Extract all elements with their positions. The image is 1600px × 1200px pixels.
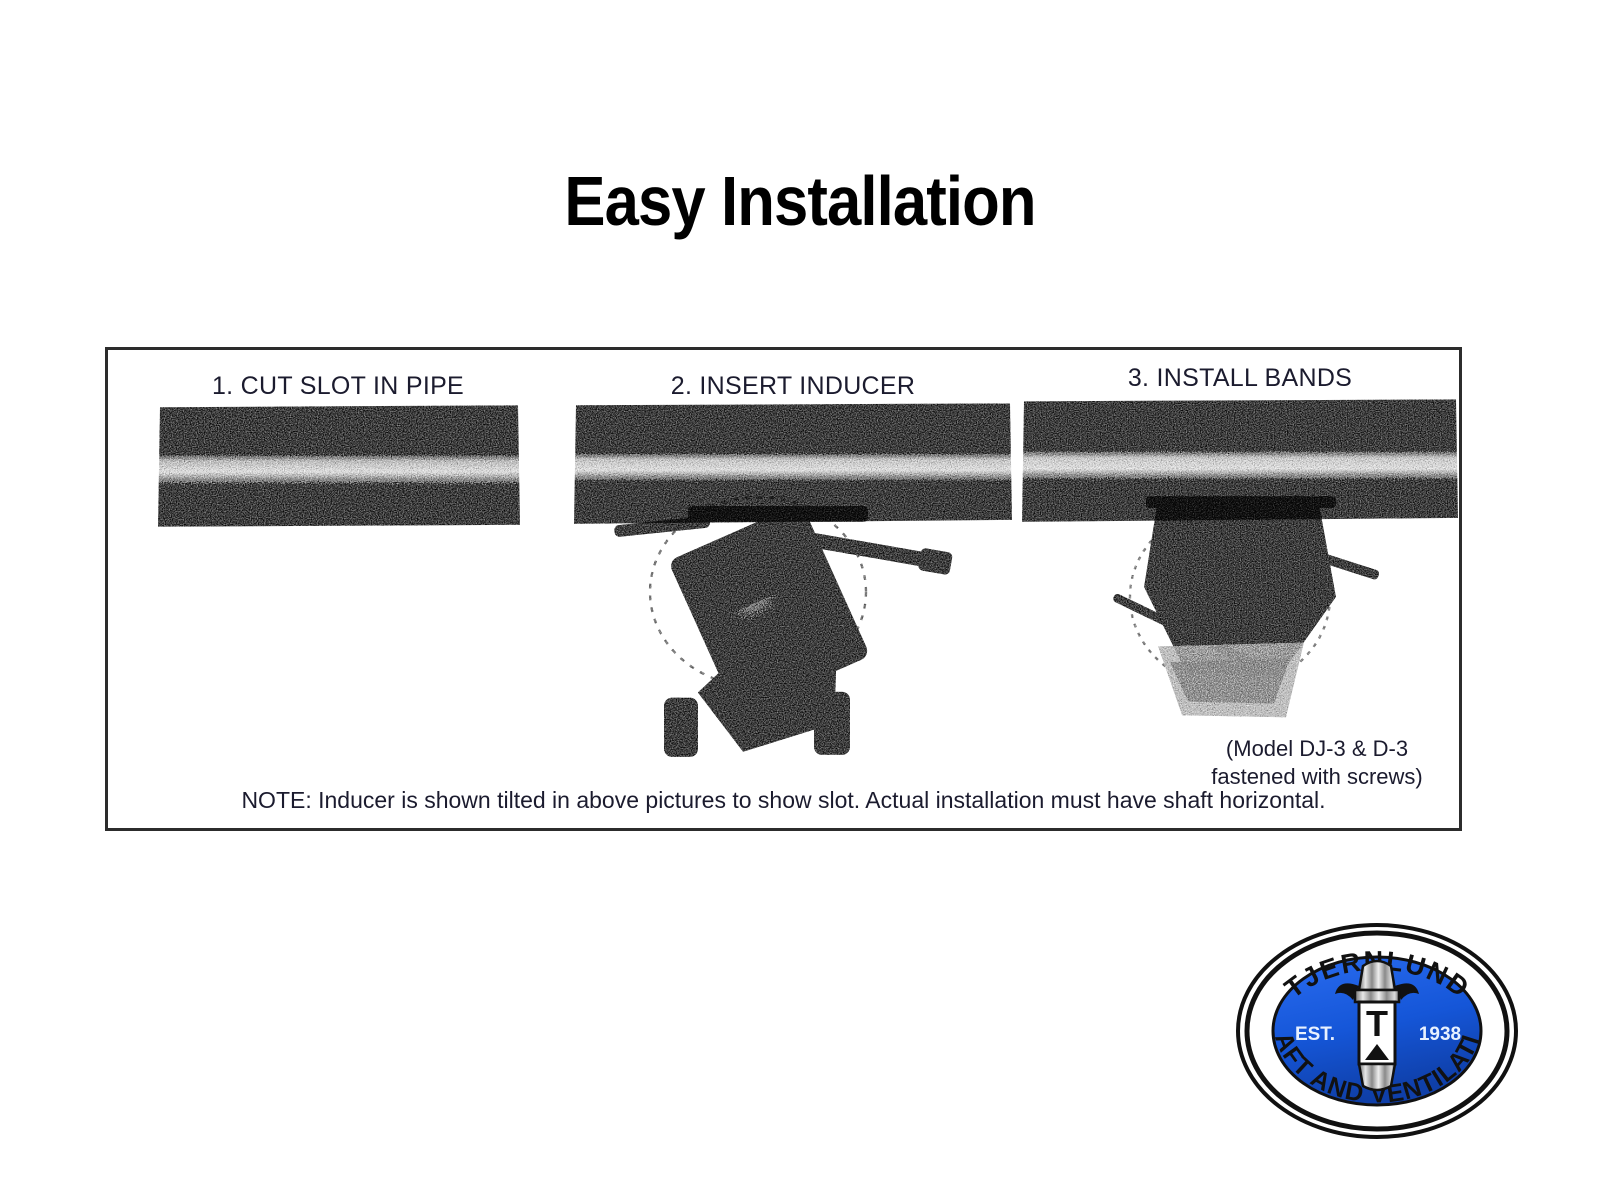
figure-note: NOTE: Inducer is shown tilted in above p… (108, 787, 1459, 814)
page-title: Easy Installation (96, 166, 1504, 236)
tjernlund-logo: TJERNLUND DRAFT AND VENTILATION EST. 193… (1235, 920, 1520, 1142)
logo-monogram: T (1366, 1003, 1388, 1044)
pipe-with-tilted-inducer-icon (568, 350, 1018, 828)
logo-established-year: 1938 (1419, 1024, 1461, 1045)
step-2-label: 2. INSERT INDUCER (568, 372, 1018, 401)
installation-figure: 1. CUT SLOT IN PIPE (105, 347, 1462, 831)
pipe-with-slot-icon (108, 350, 568, 828)
model-note-line-1: (Model DJ-3 & D-3 (1197, 735, 1437, 763)
step-panel-2: 2. INSERT INDUCER (568, 350, 1018, 828)
logo-established-label: EST. (1295, 1024, 1335, 1045)
model-note: (Model DJ-3 & D-3 fastened with screws) (1197, 735, 1437, 790)
model-note-line-2: fastened with screws) (1197, 763, 1437, 791)
step-panel-1: 1. CUT SLOT IN PIPE (108, 350, 568, 828)
step-1-label: 1. CUT SLOT IN PIPE (108, 372, 568, 401)
step-3-label: 3. INSTALL BANDS (1018, 364, 1462, 393)
